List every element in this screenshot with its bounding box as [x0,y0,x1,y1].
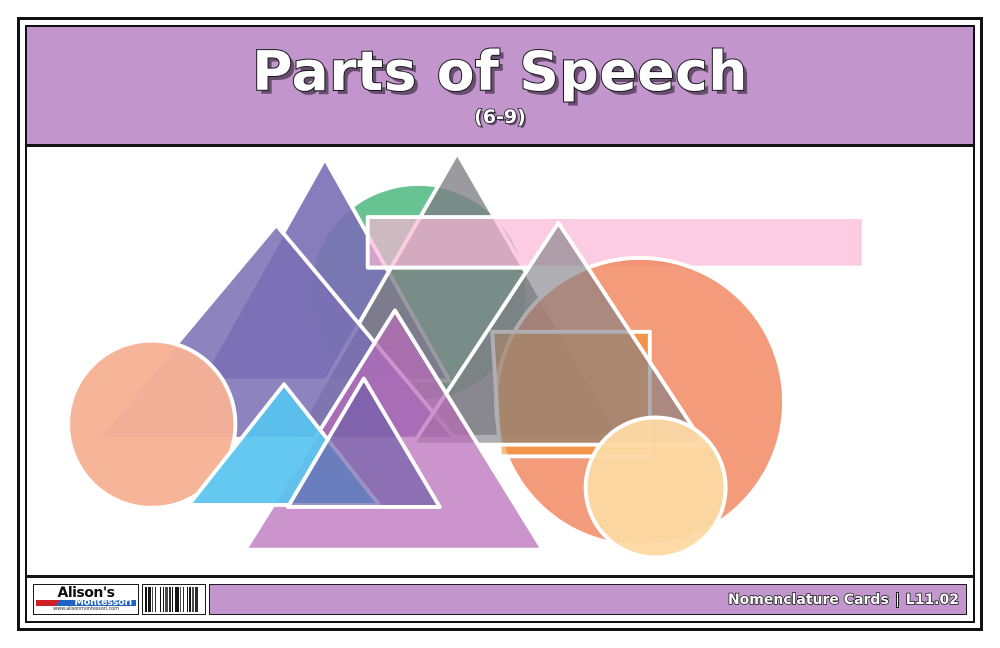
cream-circle-right-shape [586,417,726,557]
barcode [142,584,206,615]
card-footer: Alison's Montessori www.alisonmontessori… [27,575,973,621]
footer-label-group: Nomenclature Cards L11.02 [728,592,959,608]
card-header: Parts of Speech (6-9) [27,27,973,147]
series-label: Nomenclature Cards [728,593,889,607]
alisons-montessori-logo[interactable]: Alison's Montessori www.alisonmontessori… [33,584,139,615]
page-title: Parts of Speech [252,45,748,101]
logo-website-url: www.alisonmontessori.com [36,606,136,613]
logo-brand-text: Alison's [58,585,115,601]
card-inner-frame: Parts of Speech (6-9) [25,25,975,623]
footer-series-strip: Nomenclature Cards L11.02 [209,584,967,615]
barcode-bars-icon [145,587,203,612]
logo-montessori-text: Montessori [74,600,136,606]
grammar-symbols-illustration [27,147,973,575]
age-range-label: (6-9) [474,108,526,127]
nomenclature-card: Parts of Speech (6-9) [17,17,983,631]
footer-strip: Alison's Montessori www.alisonmontessori… [33,584,967,615]
catalog-code: L11.02 [906,593,959,607]
logo-brand-bar: Montessori [36,600,136,606]
artwork-panel [27,147,973,575]
logo-red-flag-icon [36,600,60,606]
logo-brand-name: Alison's [36,586,136,600]
label-separator [896,592,899,608]
